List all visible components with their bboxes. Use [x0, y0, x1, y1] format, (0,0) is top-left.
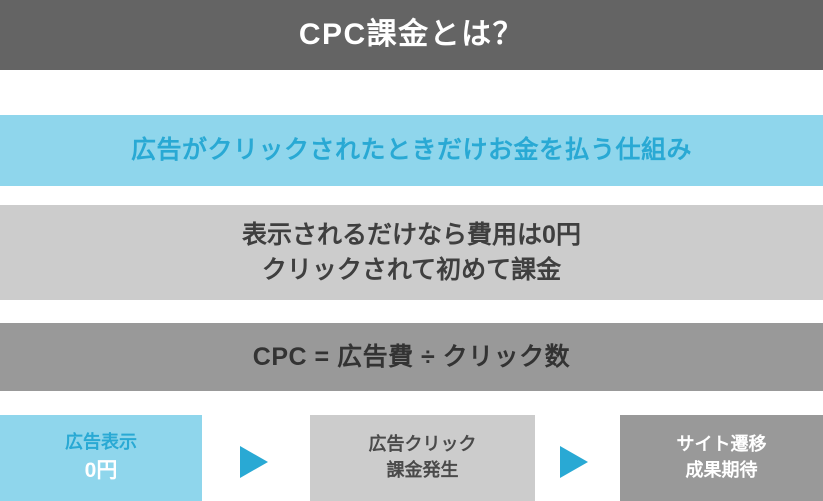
flow-step-1-line-1: 広告表示: [65, 430, 137, 456]
formula-band-text: CPC = 広告費 ÷ クリック数: [253, 345, 570, 370]
flow-step-ad-impression: 広告表示 0円: [0, 415, 202, 501]
flow-step-1-line-2: 0円: [85, 456, 118, 486]
flow-arrow-right-icon-1: [240, 446, 268, 478]
cpc-infographic-slide: CPC課金とは？ 広告がクリックされたときだけお金を払う仕組み 表示されるだけな…: [0, 0, 823, 501]
flow-step-2-line-2: 課金発生: [387, 458, 459, 484]
detail-band: 表示されるだけなら費用は0円 クリックされて初めて課金: [0, 205, 823, 300]
flow-step-2-line-1: 広告クリック: [369, 432, 477, 458]
flow-step-ad-click: 広告クリック 課金発生: [310, 415, 535, 501]
flow-arrow-right-icon-2: [560, 446, 588, 478]
flow-step-site-visit: サイト遷移 成果期待: [620, 415, 823, 501]
detail-band-line-2: クリックされて初めて課金: [262, 253, 561, 288]
header-band: CPC課金とは？: [0, 0, 823, 70]
highlight-band-text: 広告がクリックされたときだけお金を払う仕組み: [131, 138, 692, 163]
flow-step-3-line-2: 成果期待: [686, 458, 758, 484]
formula-band: CPC = 広告費 ÷ クリック数: [0, 323, 823, 391]
detail-band-line-1: 表示されるだけなら費用は0円: [242, 218, 581, 253]
flow-row: 広告表示 0円 広告クリック 課金発生 サイト遷移 成果期待: [0, 415, 823, 501]
highlight-band: 広告がクリックされたときだけお金を払う仕組み: [0, 115, 823, 186]
flow-step-3-line-1: サイト遷移: [677, 432, 767, 458]
page-title: CPC課金とは？: [299, 20, 524, 50]
